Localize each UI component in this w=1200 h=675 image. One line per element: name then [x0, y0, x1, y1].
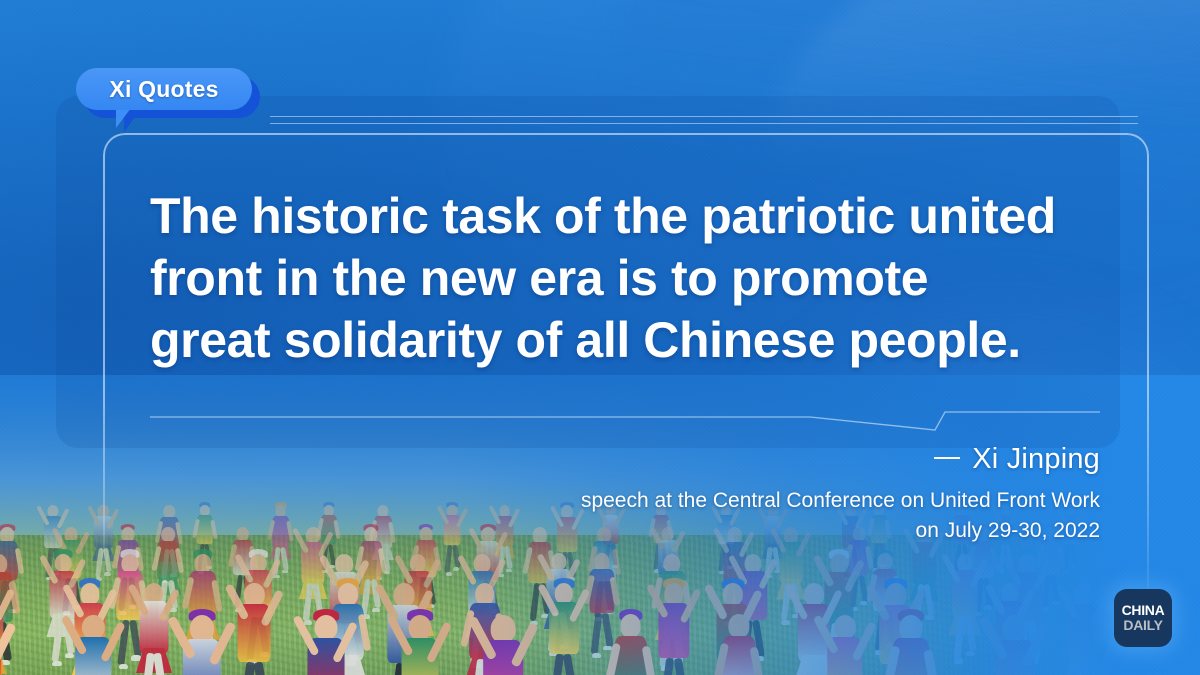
- xi-quotes-badge: Xi Quotes: [72, 66, 272, 144]
- attribution-block: Xi Jinping speech at the Central Confere…: [460, 440, 1100, 546]
- china-daily-logo: CHINA DAILY: [1114, 589, 1172, 647]
- logo-line-china: CHINA: [1122, 603, 1165, 618]
- em-dash-icon: [934, 457, 960, 459]
- separator-line-icon: [150, 406, 1100, 434]
- xi-quotes-poster: Xi Quotes The historic task of the patri…: [0, 0, 1200, 675]
- badge-pill: Xi Quotes: [76, 68, 252, 110]
- quote-line-3: great solidarity of all Chinese people.: [150, 309, 1110, 371]
- logo-line-daily: DAILY: [1123, 618, 1162, 633]
- attribution-date: on July 29-30, 2022: [460, 516, 1100, 546]
- badge-label: Xi Quotes: [109, 76, 218, 103]
- attribution-source: speech at the Central Conference on Unit…: [460, 486, 1100, 516]
- decorative-separator: [150, 406, 1100, 434]
- attribution-author: Xi Jinping: [972, 443, 1100, 475]
- quote-block: The historic task of the patriotic unite…: [150, 185, 1110, 371]
- quote-line-1: The historic task of the patriotic unite…: [150, 185, 1110, 247]
- attribution-author-row: Xi Jinping: [460, 440, 1100, 478]
- quote-line-2: front in the new era is to promote: [150, 247, 1110, 309]
